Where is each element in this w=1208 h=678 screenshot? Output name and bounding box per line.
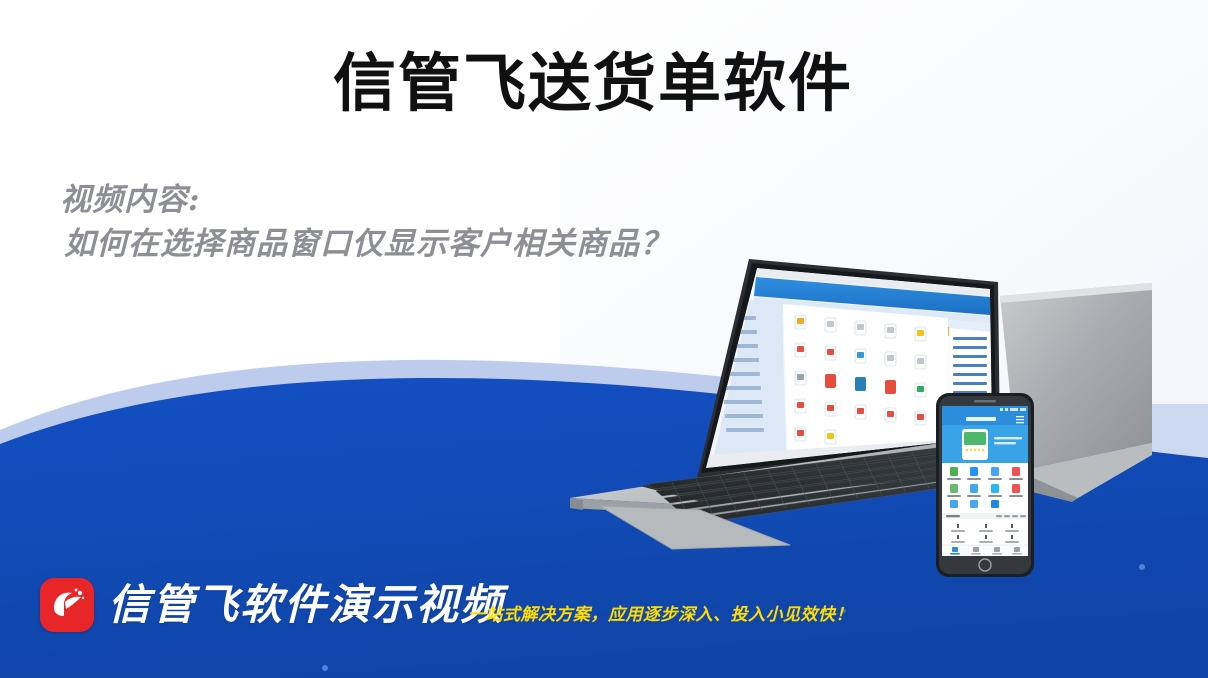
decor-dot — [322, 665, 328, 671]
xinguanfei-bird-logo-icon — [40, 578, 94, 632]
slide-canvas: 信管飞送货单软件 视频内容: 如何在选择商品窗口仅显示客户相关商品？ 信管飞软件… — [0, 0, 1208, 678]
brand-lockup: 信管飞软件演示视频 — [40, 578, 504, 632]
decor-dot — [1139, 564, 1145, 570]
brand-name: 信管飞软件演示视频 — [108, 584, 504, 626]
phone-screen-content — [942, 406, 1028, 556]
video-description-line-1: 视频内容: — [60, 178, 672, 222]
video-description: 视频内容: 如何在选择商品窗口仅显示客户相关商品？ — [60, 178, 672, 266]
page-title: 信管飞送货单软件 — [333, 48, 853, 120]
smartphone — [936, 393, 1034, 577]
video-description-line-2: 如何在选择商品窗口仅显示客户相关商品？ — [64, 222, 672, 266]
brand-tagline: 一站式解决方案，应用逐步深入、投入小见效快！ — [468, 600, 853, 625]
hamburger-menu-icon — [1016, 416, 1024, 423]
